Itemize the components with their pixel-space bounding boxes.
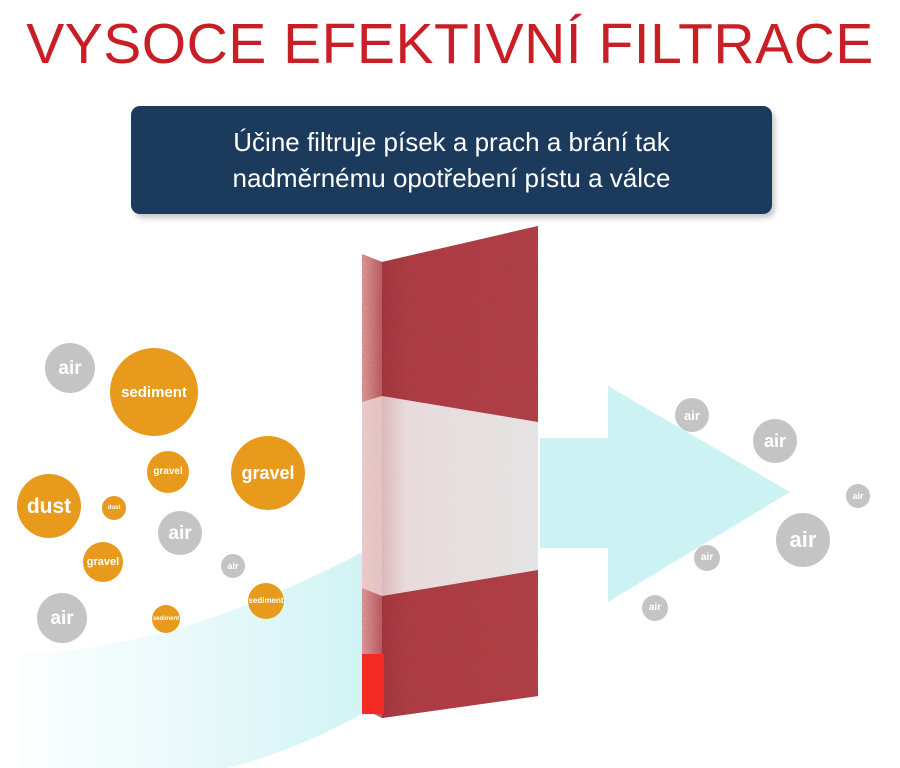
particle-label: dust <box>108 505 121 511</box>
filter-red-tab <box>362 654 384 714</box>
particle-label: gravel <box>153 467 182 477</box>
particle-sediment: sediment <box>152 605 180 633</box>
page-title: VYSOCE EFEKTIVNÍ FILTRACE <box>0 14 900 74</box>
caption-box: Účine filtruje písek a prach a brání tak… <box>131 106 772 214</box>
particle-air: air <box>45 343 95 393</box>
particle-sediment: sediment <box>248 583 284 619</box>
particle-air: air <box>694 545 720 571</box>
caption-line-1: Účine filtruje písek a prach a brání tak <box>233 124 669 160</box>
particle-air: air <box>158 511 202 555</box>
caption-line-2: nadměrnému opotřebení pístu a válce <box>233 160 671 196</box>
particle-gravel: gravel <box>147 451 189 493</box>
foam-filter-block <box>360 226 540 736</box>
particle-label: air <box>50 609 73 628</box>
particle-air: air <box>846 484 870 508</box>
particle-air: air <box>753 419 797 463</box>
particle-gravel: gravel <box>231 436 305 510</box>
particle-label: air <box>227 562 238 571</box>
particle-label: air <box>764 432 786 450</box>
particle-air: air <box>776 513 830 567</box>
particle-dust: dust <box>102 496 126 520</box>
particle-air: air <box>675 398 709 432</box>
particle-dust: dust <box>17 474 81 538</box>
particle-air: air <box>642 595 668 621</box>
filtration-diagram: airsedimentgravelgraveldustdustairgravel… <box>0 226 900 768</box>
particle-label: gravel <box>87 557 119 568</box>
particle-label: dust <box>27 496 71 517</box>
filtered-air-band <box>362 396 538 596</box>
particle-label: air <box>790 529 817 551</box>
particle-air: air <box>37 593 87 643</box>
particle-gravel: gravel <box>83 542 123 582</box>
particle-label: air <box>852 492 863 501</box>
clean-air-arrow <box>540 386 790 602</box>
particle-label: air <box>701 553 713 563</box>
particle-label: sediment <box>248 597 283 605</box>
particle-label: air <box>684 409 700 422</box>
particle-label: air <box>649 603 661 613</box>
particle-sediment: sediment <box>110 348 198 436</box>
particle-label: sediment <box>121 385 187 400</box>
particle-label: sediment <box>153 616 179 622</box>
particle-label: air <box>58 359 81 378</box>
infographic-canvas: VYSOCE EFEKTIVNÍ FILTRACE Účine filtruje… <box>0 0 900 768</box>
particle-air: air <box>221 554 245 578</box>
particle-label: air <box>168 524 191 543</box>
particle-label: gravel <box>241 464 294 482</box>
